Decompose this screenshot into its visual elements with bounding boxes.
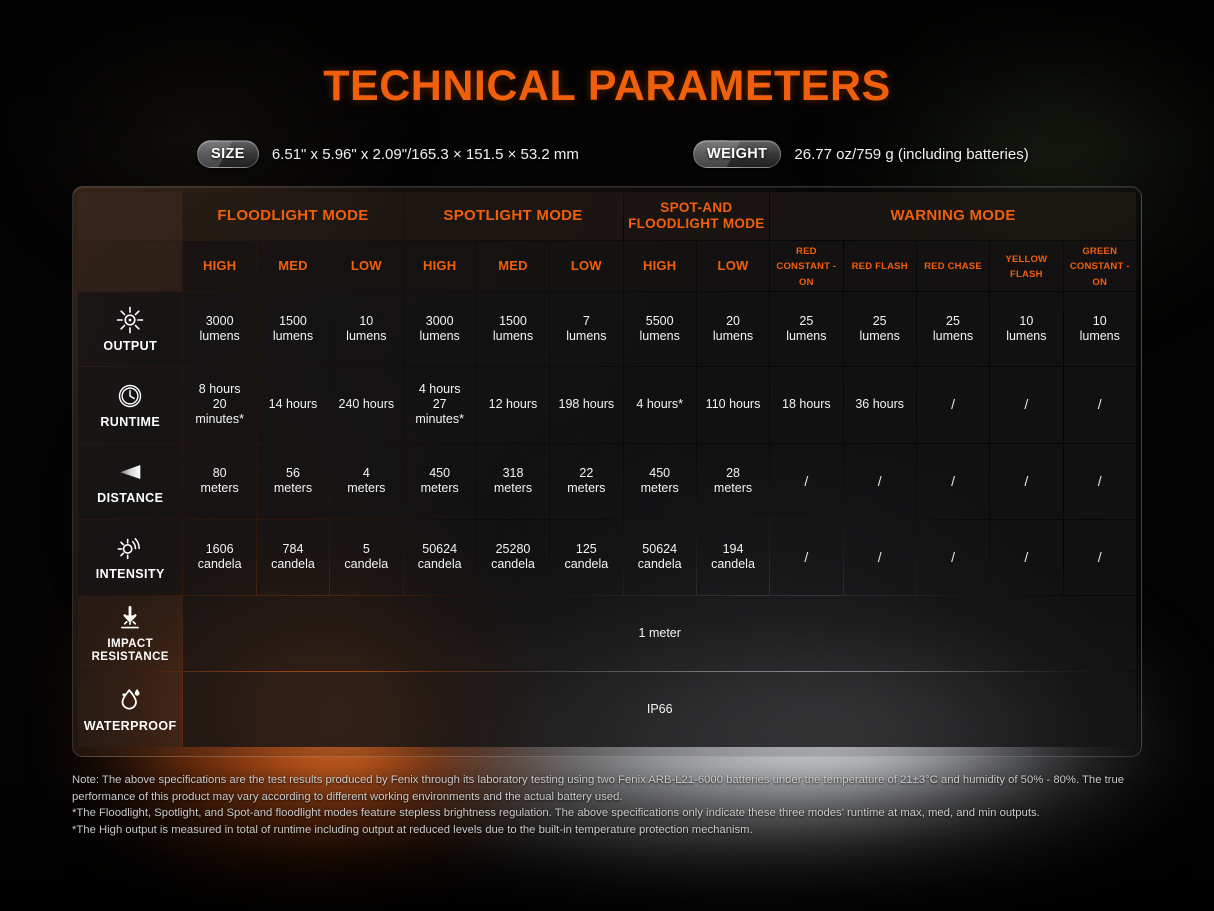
cell-value: / xyxy=(770,444,842,519)
note-line-3: *The High output is measured in total of… xyxy=(72,822,1144,839)
header-corner-blank xyxy=(78,192,182,240)
cell-value: 10 lumens xyxy=(1064,292,1137,366)
cell-value: 4 hours 27 minutes* xyxy=(404,367,476,443)
cell-value: 450 meters xyxy=(624,444,696,519)
cell-value: 22 meters xyxy=(550,444,622,519)
header-group-warning: WARNING MODE xyxy=(770,192,1136,240)
cell-value: 50624 candela xyxy=(404,520,476,595)
cell-value: 318 meters xyxy=(477,444,549,519)
cell-value: / xyxy=(844,444,916,519)
subheader-yellow-flash: YELLOW FLASH xyxy=(990,241,1062,291)
header-group-spot-and-floodlight: SPOT-AND FLOODLIGHT MODE xyxy=(624,192,770,240)
row-label-intensity: INTENSITY xyxy=(78,520,182,595)
subheader-red-chase: RED CHASE xyxy=(917,241,989,291)
cell-value: / xyxy=(917,444,989,519)
cell-value: 50624 candela xyxy=(624,520,696,595)
row-label-text: WATERPROOF xyxy=(84,720,177,734)
cell-value: 36 hours xyxy=(844,367,916,443)
note-line-2: *The Floodlight, Spotlight, and Spot-and… xyxy=(72,805,1144,822)
row-label-distance: DISTANCE xyxy=(78,444,182,519)
table-row: IMPACT RESISTANCE 1 meter xyxy=(78,596,1136,671)
cell-value: 784 candela xyxy=(257,520,329,595)
cell-waterproof-value: IP66 xyxy=(183,672,1136,747)
subheader-spotflood-low: LOW xyxy=(697,241,769,291)
row-label-output: OUTPUT xyxy=(78,292,182,366)
cell-value: / xyxy=(990,520,1062,595)
cell-value: / xyxy=(1064,444,1137,519)
cell-value: 25 lumens xyxy=(917,292,989,366)
cell-value: 1606 candela xyxy=(183,520,255,595)
cell-value: / xyxy=(917,520,989,595)
header-group-spotlight: SPOTLIGHT MODE xyxy=(404,192,623,240)
weight-spec-row: WEIGHT 26.77 oz/759 g (including batteri… xyxy=(693,139,1029,169)
cell-value: / xyxy=(917,367,989,443)
cell-value: 198 hours xyxy=(550,367,622,443)
water-drop-icon xyxy=(115,685,145,715)
cell-value: 5 candela xyxy=(330,520,402,595)
sun-rays-icon xyxy=(115,533,145,563)
row-label-impact-resistance: IMPACT RESISTANCE xyxy=(78,596,182,671)
cell-value: / xyxy=(1064,367,1137,443)
table-row: WATERPROOF IP66 xyxy=(78,672,1136,747)
cell-value: 25 lumens xyxy=(844,292,916,366)
subheader-flood-low: LOW xyxy=(330,241,402,291)
weight-badge: WEIGHT xyxy=(693,140,781,168)
cell-value: 25 lumens xyxy=(770,292,842,366)
table-mode-group-header-row: FLOODLIGHT MODE SPOTLIGHT MODE SPOT-AND … xyxy=(78,192,1136,240)
subheader-green-constant-on: GREEN CONSTANT -ON xyxy=(1064,241,1137,291)
sun-output-icon xyxy=(115,305,145,335)
row-label-text: OUTPUT xyxy=(103,340,157,354)
subheader-spot-high: HIGH xyxy=(404,241,476,291)
cell-value: 7 lumens xyxy=(550,292,622,366)
cell-value: 80 meters xyxy=(183,444,255,519)
cell-value: 4 hours* xyxy=(624,367,696,443)
cell-value: 12 hours xyxy=(477,367,549,443)
subheader-spotflood-high: HIGH xyxy=(624,241,696,291)
footer-note: Note: The above specifications are the t… xyxy=(72,772,1144,838)
cell-value: 194 candela xyxy=(697,520,769,595)
size-spec-row: SIZE 6.51" x 5.96" x 2.09"/165.3 × 151.5… xyxy=(197,139,579,169)
specifications-table: FLOODLIGHT MODE SPOTLIGHT MODE SPOT-AND … xyxy=(77,191,1137,748)
cell-value: 3000 lumens xyxy=(404,292,476,366)
cell-value: 28 meters xyxy=(697,444,769,519)
cell-value: 240 hours xyxy=(330,367,402,443)
table-row: OUTPUT 3000 lumens 1500 lumens 10 lumens… xyxy=(78,292,1136,366)
weight-value: 26.77 oz/759 g (including batteries) xyxy=(794,146,1028,163)
subheader-flood-med: MED xyxy=(257,241,329,291)
cell-value: / xyxy=(990,444,1062,519)
cell-value: 8 hours 20 minutes* xyxy=(183,367,255,443)
cell-value: 25280 candela xyxy=(477,520,549,595)
cell-value: 450 meters xyxy=(404,444,476,519)
row-label-text: IMPACT RESISTANCE xyxy=(81,638,179,663)
cell-value: 14 hours xyxy=(257,367,329,443)
cell-value: / xyxy=(770,520,842,595)
cell-value: 110 hours xyxy=(697,367,769,443)
subheader-red-constant-on: RED CONSTANT -ON xyxy=(770,241,842,291)
subheader-flood-high: HIGH xyxy=(183,241,255,291)
table-row: RUNTIME 8 hours 20 minutes* 14 hours 240… xyxy=(78,367,1136,443)
cell-value: 1500 lumens xyxy=(257,292,329,366)
cell-value: 56 meters xyxy=(257,444,329,519)
page-root: TECHNICAL PARAMETERS SIZE 6.51" x 5.96" … xyxy=(0,0,1214,911)
cell-value: / xyxy=(1064,520,1137,595)
row-label-text: INTENSITY xyxy=(96,568,165,582)
cell-impact-resistance-value: 1 meter xyxy=(183,596,1136,671)
cell-value: / xyxy=(844,520,916,595)
table-row: DISTANCE 80 meters 56 meters 4 meters 45… xyxy=(78,444,1136,519)
subheader-corner-blank xyxy=(78,241,182,291)
cell-value: 125 candela xyxy=(550,520,622,595)
note-line-1: Note: The above specifications are the t… xyxy=(72,772,1144,805)
row-label-runtime: RUNTIME xyxy=(78,367,182,443)
subheader-spot-low: LOW xyxy=(550,241,622,291)
size-badge: SIZE xyxy=(197,140,259,168)
clock-icon xyxy=(115,381,145,411)
subheader-red-flash: RED FLASH xyxy=(844,241,916,291)
cell-value: 10 lumens xyxy=(990,292,1062,366)
table-row: INTENSITY 1606 candela 784 candela 5 can… xyxy=(78,520,1136,595)
cell-value: 4 meters xyxy=(330,444,402,519)
impact-arrow-icon xyxy=(115,603,145,633)
row-label-waterproof: WATERPROOF xyxy=(78,672,182,747)
beam-triangle-icon xyxy=(115,457,145,487)
cell-value: 5500 lumens xyxy=(624,292,696,366)
cell-value: / xyxy=(990,367,1062,443)
subheader-spot-med: MED xyxy=(477,241,549,291)
specifications-panel: FLOODLIGHT MODE SPOTLIGHT MODE SPOT-AND … xyxy=(72,186,1142,757)
size-value: 6.51" x 5.96" x 2.09"/165.3 × 151.5 × 53… xyxy=(272,146,579,163)
page-title: TECHNICAL PARAMETERS xyxy=(0,62,1214,111)
cell-value: 20 lumens xyxy=(697,292,769,366)
header-group-floodlight: FLOODLIGHT MODE xyxy=(183,192,402,240)
row-label-text: RUNTIME xyxy=(100,416,160,430)
table-sub-header-row: HIGH MED LOW HIGH MED LOW HIGH LOW RED C… xyxy=(78,241,1136,291)
cell-value: 10 lumens xyxy=(330,292,402,366)
cell-value: 1500 lumens xyxy=(477,292,549,366)
row-label-text: DISTANCE xyxy=(97,492,163,506)
cell-value: 3000 lumens xyxy=(183,292,255,366)
cell-value: 18 hours xyxy=(770,367,842,443)
